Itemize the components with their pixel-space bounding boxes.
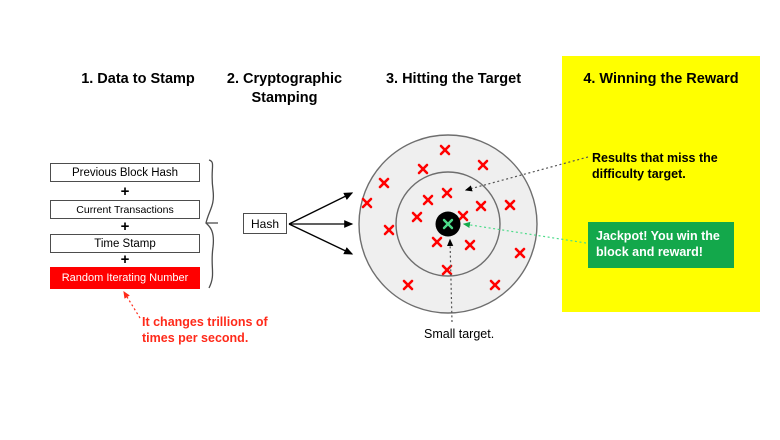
plus-separator-1: +: [50, 184, 200, 199]
block-input-random-iterating-number: Random Iterating Number: [50, 267, 200, 289]
hash-output-arrows: [289, 193, 352, 254]
input-group-bracket: [206, 160, 218, 288]
winning-hash-mark: [444, 220, 452, 228]
red-x-mark: [459, 212, 467, 220]
failed-hash-marks: [363, 146, 524, 289]
nonce-change-note: It changes trillions of times per second…: [142, 315, 302, 346]
red-x-mark: [477, 202, 485, 210]
nonce-note-leader: [124, 292, 140, 318]
red-x-mark: [419, 165, 427, 173]
red-x-mark: [363, 199, 371, 207]
plus-separator-2: +: [50, 219, 200, 234]
diagram-canvas: 1. Data to Stamp 2. Cryptographic Stampi…: [0, 0, 780, 440]
block-input-current-transactions: Current Transactions: [50, 200, 200, 219]
red-x-mark: [443, 189, 451, 197]
red-x-mark: [506, 201, 514, 209]
bullseye-target: [436, 212, 461, 237]
red-x-mark: [441, 146, 449, 154]
target-rings: [359, 135, 537, 313]
column-heading-data-to-stamp: 1. Data to Stamp: [58, 70, 218, 89]
column-heading-hitting-the-target: 3. Hitting the Target: [366, 70, 541, 89]
red-x-mark: [491, 281, 499, 289]
column-heading-cryptographic-stamping: 2. Cryptographic Stamping: [212, 70, 357, 108]
small-target-leader: [450, 240, 452, 322]
jackpot-callout: Jackpot! You win the block and reward!: [588, 222, 734, 268]
red-x-mark: [479, 161, 487, 169]
red-x-mark: [443, 266, 451, 274]
red-x-mark: [466, 241, 474, 249]
red-x-mark: [380, 179, 388, 187]
red-x-mark: [516, 249, 524, 257]
plus-separator-3: +: [50, 252, 200, 267]
hash-box: Hash: [243, 213, 287, 234]
red-x-mark: [404, 281, 412, 289]
red-x-mark: [433, 238, 441, 246]
winning-reward-panel: [562, 56, 760, 312]
column-heading-winning-the-reward: 4. Winning the Reward: [576, 70, 746, 89]
block-input-previous-block-hash: Previous Block Hash: [50, 163, 200, 182]
red-x-mark: [413, 213, 421, 221]
red-x-mark: [385, 226, 393, 234]
miss-difficulty-note: Results that miss the difficulty target.: [592, 150, 742, 183]
red-x-mark: [424, 196, 432, 204]
small-target-label: Small target.: [424, 327, 544, 341]
